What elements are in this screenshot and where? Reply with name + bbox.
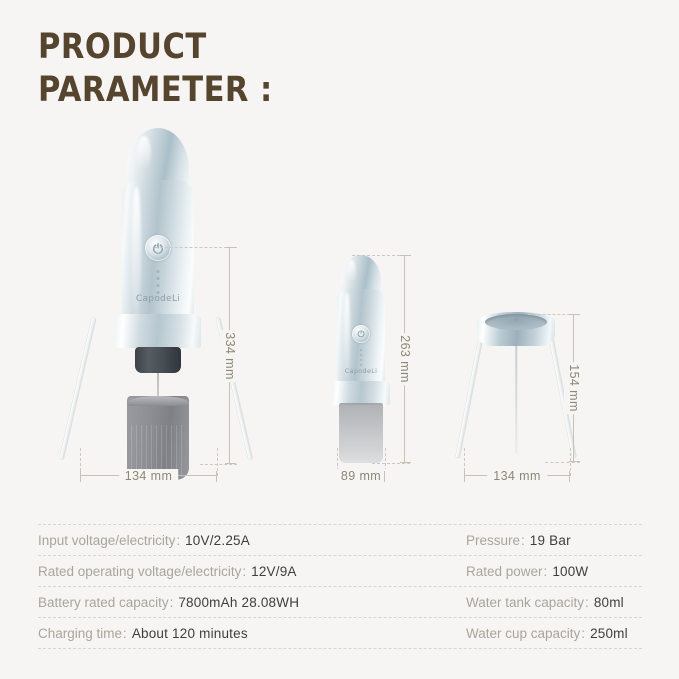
- spec-label: Pressure: [466, 533, 520, 548]
- dimension-width-unit1: 134 mm: [80, 475, 217, 476]
- spec-cell-water-cup-capacity: Water cup capacity : 250ml: [466, 626, 642, 641]
- stand-ring-opening: [485, 314, 547, 330]
- dimension-height-unit3-label: 154 mm: [564, 362, 584, 414]
- power-icon: ⏻: [153, 242, 163, 255]
- spec-value: 80ml: [594, 595, 624, 610]
- unit-stand-only: [456, 306, 576, 471]
- spec-colon: :: [584, 595, 594, 610]
- spec-label: Input voltage/electricity: [38, 533, 175, 548]
- dimension-height-unit1: 334 mm: [229, 247, 230, 464]
- spec-value: 10V/2.25A: [185, 533, 250, 548]
- spec-colon: :: [543, 564, 553, 579]
- spec-divider: [38, 648, 642, 649]
- power-icon-compact: ⏻: [357, 330, 364, 339]
- spec-label: Rated power: [466, 564, 543, 579]
- spec-cell-charging-time: Charging time : About 120 minutes: [38, 626, 466, 641]
- spec-row: Battery rated capacity : 7800mAh 28.08WH…: [38, 587, 642, 617]
- guide-line-bottom-unit2: [372, 463, 410, 464]
- page-title-line-2: PARAMETER :: [38, 69, 445, 112]
- power-button-compact[interactable]: ⏻: [352, 325, 370, 343]
- spec-value: 100W: [552, 564, 588, 579]
- power-button[interactable]: ⏻: [145, 235, 171, 261]
- spec-label: Battery rated capacity: [38, 595, 169, 610]
- unit-machine-compact: ⏻ CapodeLi: [325, 251, 397, 466]
- spec-value: 7800mAh 28.08WH: [178, 595, 299, 610]
- spec-colon: :: [122, 626, 132, 641]
- dimension-height-unit2-label: 263 mm: [395, 333, 415, 385]
- cup-attached: [339, 403, 383, 463]
- machine-fin-collar: [115, 314, 201, 348]
- page-title: PRODUCT PARAMETER :: [38, 26, 458, 112]
- spec-cell-rated-power: Rated power : 100W: [466, 564, 642, 579]
- spec-colon: :: [169, 595, 179, 610]
- guide-line-bottom-unit1: [200, 464, 237, 465]
- dimension-width-unit3-label: 134 mm: [487, 469, 547, 483]
- brand-logo: CapodeLi: [136, 294, 180, 304]
- coffee-cup: [127, 396, 189, 480]
- brand-logo-compact: CapodeLi: [345, 367, 378, 375]
- stand-leg-left: [456, 332, 484, 458]
- cup-rim: [127, 396, 189, 406]
- machine-compact-fin-collar: [332, 381, 390, 405]
- spec-value: 250ml: [590, 626, 628, 641]
- battery-indicator-dots-compact: [360, 349, 362, 366]
- battery-indicator-dots: [157, 270, 160, 294]
- spec-row: Input voltage/electricity : 10V/2.25A Pr…: [38, 525, 642, 555]
- guide-line-bottom-unit3: [545, 462, 580, 463]
- spec-label: Rated operating voltage/electricity: [38, 564, 241, 579]
- unit-machine-with-stand: ⏻ CapodeLi: [58, 118, 258, 478]
- dimension-width-unit2: 89 mm: [337, 475, 385, 476]
- portafilter: [135, 347, 181, 373]
- spec-colon: :: [241, 564, 251, 579]
- stand-ring-center-dot: [514, 318, 518, 321]
- spec-label: Charging time: [38, 626, 122, 641]
- specification-table: Input voltage/electricity : 10V/2.25A Pr…: [38, 524, 642, 649]
- dimension-width-unit1-label: 134 mm: [119, 469, 179, 483]
- spec-cell-battery-capacity: Battery rated capacity : 7800mAh 28.08WH: [38, 595, 466, 610]
- dimension-width-unit3: 134 mm: [464, 475, 570, 476]
- spec-value: 19 Bar: [530, 533, 571, 548]
- spec-colon: :: [580, 626, 590, 641]
- spec-colon: :: [520, 533, 530, 548]
- guide-line-right-unit1: [217, 448, 218, 476]
- guide-line-right-unit3: [570, 448, 571, 476]
- spec-cell-pressure: Pressure : 19 Bar: [466, 533, 642, 548]
- spec-colon: :: [175, 533, 185, 548]
- dimension-width-unit2-label: 89 mm: [335, 469, 387, 483]
- spec-value: About 120 minutes: [132, 626, 248, 641]
- spec-cell-rated-operating-voltage: Rated operating voltage/electricity : 12…: [38, 564, 466, 579]
- spec-cell-input-voltage: Input voltage/electricity : 10V/2.25A: [38, 533, 466, 548]
- stand-center-post: [515, 336, 517, 454]
- spec-row: Charging time : About 120 minutes Water …: [38, 618, 642, 648]
- dimension-height-unit1-label: 334 mm: [220, 330, 240, 382]
- tripod-leg-left: [59, 318, 96, 460]
- product-illustration: ⏻ CapodeLi 334 mm 134 mm: [0, 118, 679, 500]
- spec-label: Water tank capacity: [466, 595, 584, 610]
- spec-cell-water-tank-capacity: Water tank capacity : 80ml: [466, 595, 642, 610]
- spec-value: 12V/9A: [251, 564, 296, 579]
- dimension-height-unit3: 154 mm: [573, 314, 574, 462]
- spec-label: Water cup capacity: [466, 626, 580, 641]
- page-title-line-1: PRODUCT: [38, 26, 445, 69]
- dimension-height-unit2: 263 mm: [404, 255, 405, 463]
- spec-row: Rated operating voltage/electricity : 12…: [38, 556, 642, 586]
